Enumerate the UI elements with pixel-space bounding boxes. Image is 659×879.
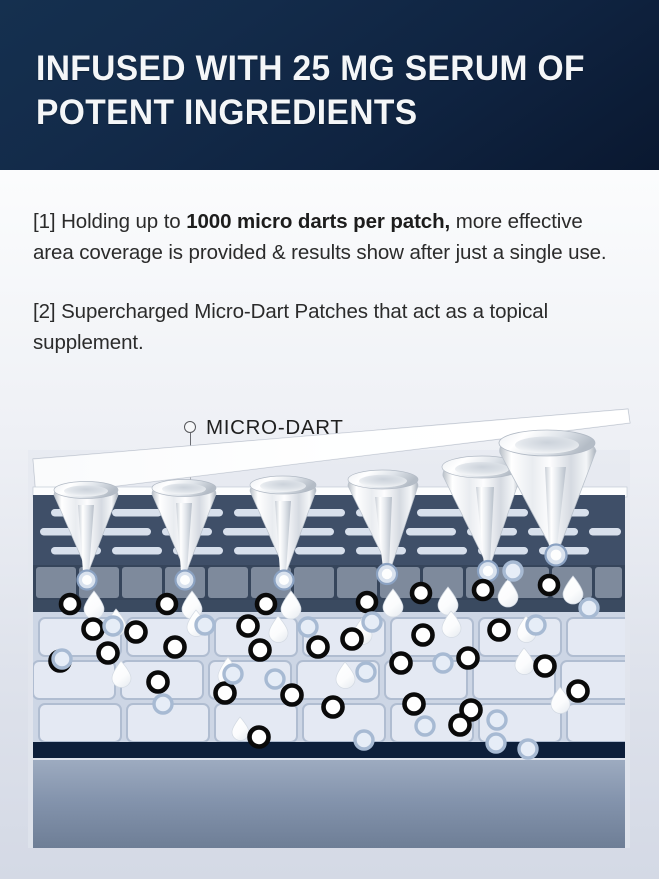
paragraph-2: [2] Supercharged Micro-Dart Patches that… bbox=[33, 297, 613, 358]
paragraph-1-bold: 1000 micro darts per patch, bbox=[186, 210, 450, 233]
paragraph-2-text: Supercharged Micro-Dart Patches that act… bbox=[33, 300, 548, 354]
basal-band bbox=[33, 600, 625, 614]
paragraph-1: [1] Holding up to 1000 micro darts per p… bbox=[33, 207, 613, 268]
paragraph-2-marker: [2] bbox=[33, 300, 56, 323]
paragraph-1-marker: [1] bbox=[33, 210, 56, 233]
epidermis-cell-row bbox=[33, 565, 625, 600]
header-banner: INFUSED WITH 25 MG SERUM OF POTENT INGRE… bbox=[0, 0, 659, 170]
hypodermis-layer bbox=[33, 760, 625, 848]
body-copy: [1] Holding up to 1000 micro darts per p… bbox=[33, 207, 613, 358]
page-title: INFUSED WITH 25 MG SERUM OF POTENT INGRE… bbox=[36, 46, 603, 134]
skin-cross-section-diagram bbox=[0, 395, 659, 879]
paragraph-1-text-before: Holding up to bbox=[56, 210, 187, 233]
